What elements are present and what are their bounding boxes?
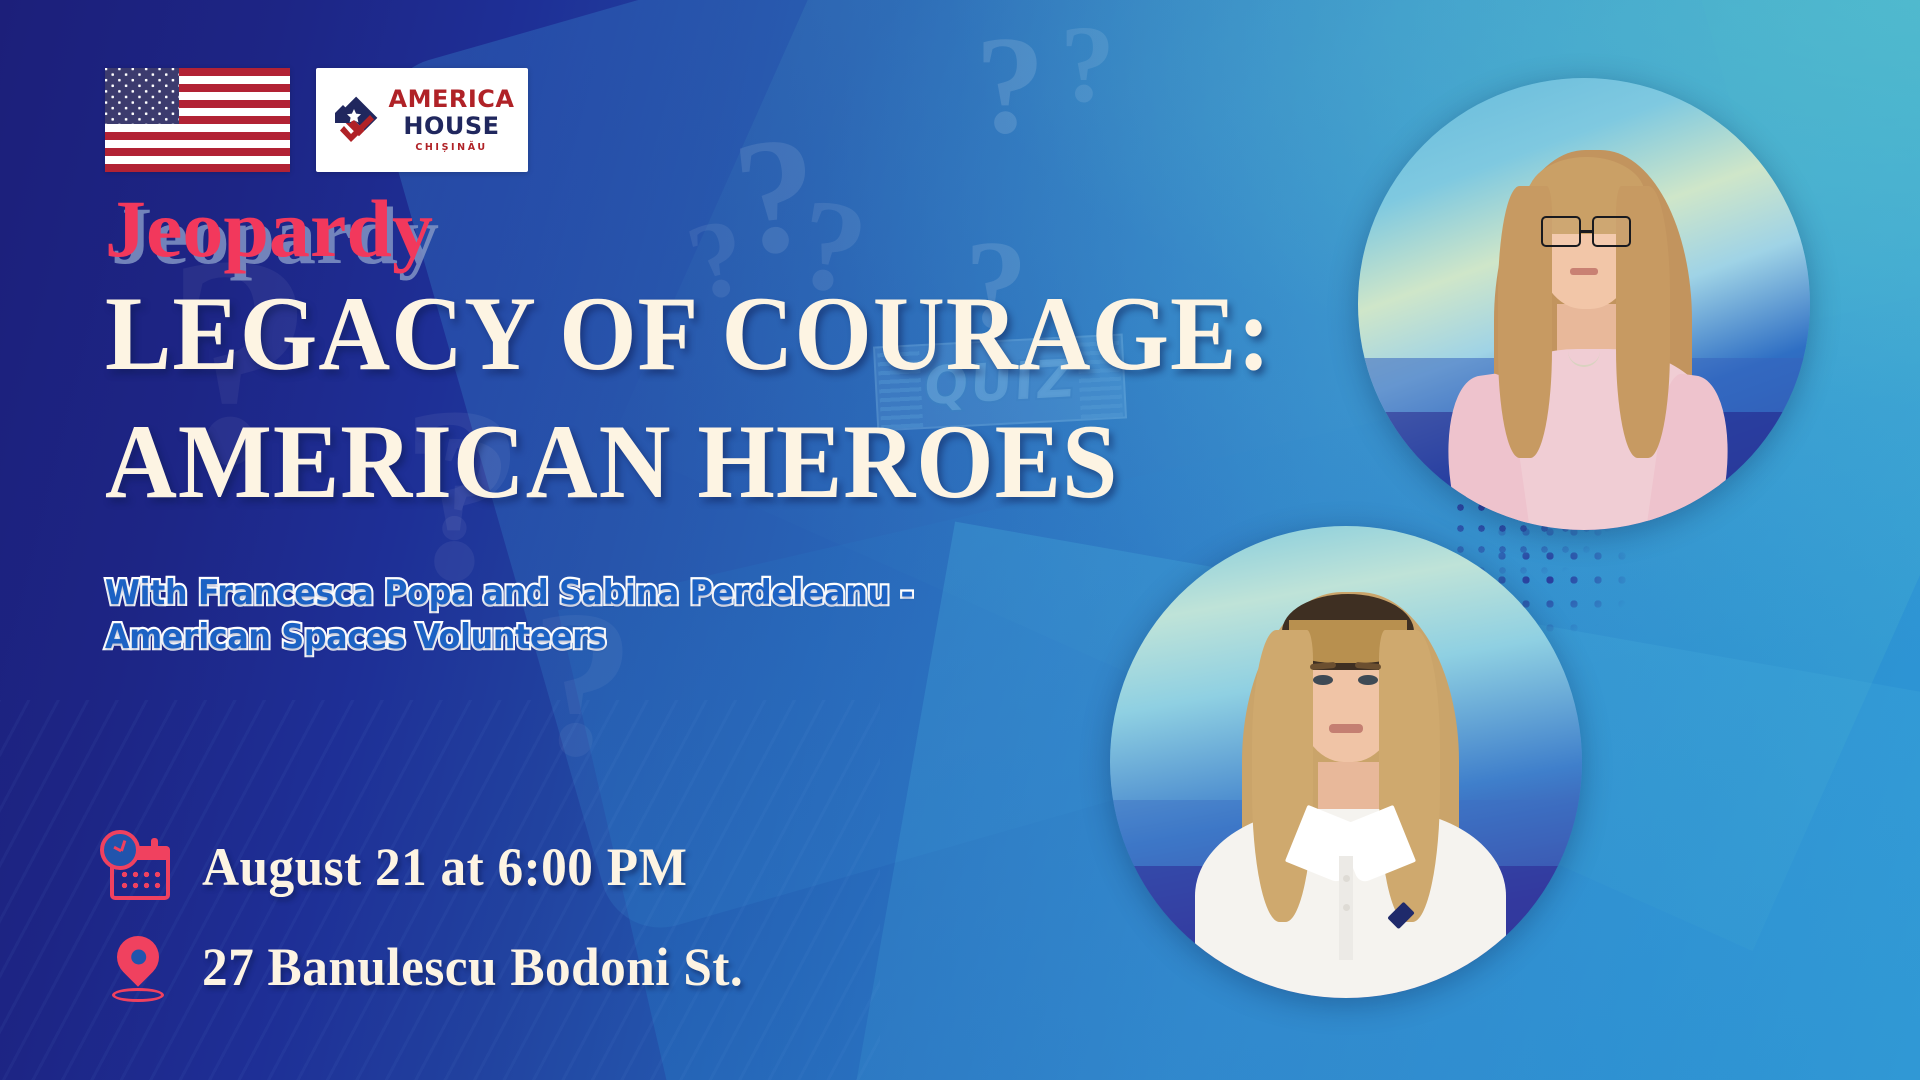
glasses-icon <box>1541 216 1631 248</box>
clock-icon <box>100 830 140 870</box>
calendar-grid <box>119 869 161 891</box>
detail-row-datetime: August 21 at 6:00 PM <box>98 828 772 906</box>
person-silhouette-bottom <box>1110 526 1582 998</box>
kicker-jeopardy: Jeopardy <box>105 190 1045 268</box>
glasses-bridge <box>1581 230 1592 233</box>
portrait-scene-top <box>1358 78 1810 530</box>
eye-left <box>1313 675 1333 685</box>
page-title-line-2: AMERICAN HEROES <box>105 406 989 518</box>
flag-canton-stars <box>105 68 179 124</box>
glasses-lens-left <box>1541 216 1581 248</box>
america-house-mark-icon <box>330 96 378 144</box>
presenters-line-1: With Francesca Popa and Sabina Perdelean… <box>105 571 979 616</box>
logo-line-house: HOUSE <box>403 114 499 138</box>
page-title-line-1: LEGACY OF COURAGE: <box>105 278 989 390</box>
eye-right <box>1358 675 1378 685</box>
necklace <box>1568 336 1600 368</box>
polo-button <box>1343 904 1350 911</box>
hair-right <box>1379 630 1440 923</box>
presenters-text: With Francesca Popa and Sabina Perdelean… <box>105 571 979 661</box>
glasses-lens-right <box>1592 216 1632 248</box>
hair-left <box>1252 630 1313 923</box>
portrait-sabina-perdeleanu <box>1110 526 1582 998</box>
portrait-francesca-popa <box>1358 78 1810 530</box>
detail-row-location: 27 Banulescu Bodoni St. <box>98 928 772 1006</box>
us-flag-icon <box>105 68 290 172</box>
question-mark-icon: ? <box>1060 20 1115 108</box>
mouth <box>1329 724 1362 732</box>
event-poster: ? ? ? ? ? ? ? ? ? ? QUIZ <box>0 0 1920 1080</box>
pin-shape <box>108 927 167 986</box>
detail-text-location: 27 Banulescu Bodoni St. <box>202 940 743 994</box>
headline-block: Jeopardy LEGACY OF COURAGE: AMERICAN HER… <box>105 190 1045 660</box>
polo-america-house-logo <box>1393 904 1435 937</box>
presenters-line-2: American Spaces Volunteers <box>105 615 979 660</box>
event-details: August 21 at 6:00 PM 27 Banulescu Bodoni… <box>98 828 772 1006</box>
mouth <box>1570 268 1597 275</box>
detail-text-datetime: August 21 at 6:00 PM <box>202 840 687 894</box>
america-house-wordmark: AMERICA HOUSE CHIȘINĂU <box>389 87 515 153</box>
logo-line-city: CHIȘINĂU <box>415 143 487 153</box>
question-mark-icon: ? <box>975 30 1045 142</box>
portrait-scene-bottom <box>1110 526 1582 998</box>
logo-line-america: AMERICA <box>389 87 515 111</box>
pin-base-ellipse <box>112 988 164 1002</box>
calendar-clock-icon <box>98 828 176 906</box>
location-pin-icon <box>98 928 176 1006</box>
america-house-logo: AMERICA HOUSE CHIȘINĂU <box>316 68 528 172</box>
brand-bar: AMERICA HOUSE CHIȘINĂU <box>105 68 528 172</box>
person-silhouette-top <box>1358 78 1810 530</box>
